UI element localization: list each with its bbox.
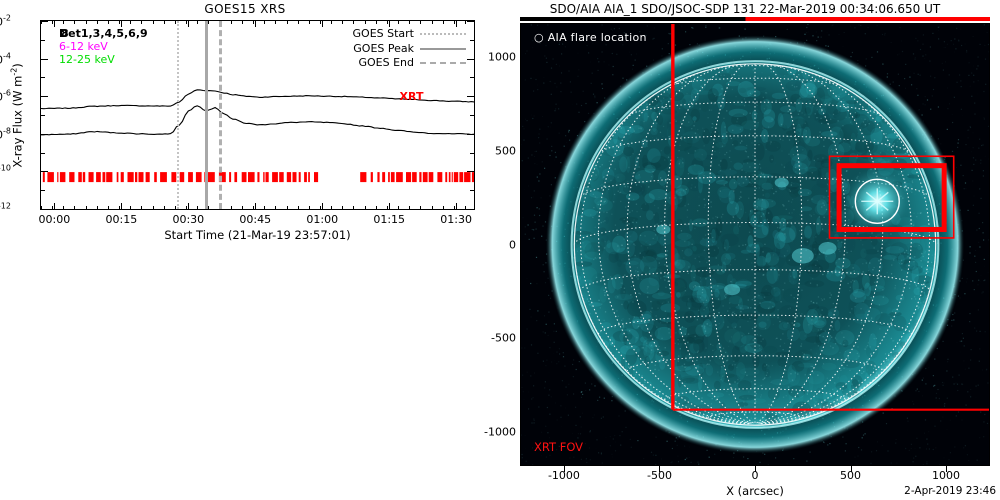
goes-x-minor-tick xyxy=(298,21,299,24)
goes-vline-goes-peak xyxy=(205,21,208,209)
goes-event-marker xyxy=(89,172,94,182)
goes-x-tick-label: 00:15 xyxy=(105,213,137,226)
goes-y-tick-label: 10-2 xyxy=(0,14,11,29)
goes-event-marker xyxy=(180,172,185,182)
goes-x-minor-tick xyxy=(253,206,254,209)
goes-y-tick-label: 10-8 xyxy=(0,126,11,141)
goes-x-minor-tick xyxy=(409,21,410,24)
goes-x-minor-tick xyxy=(74,21,75,24)
goes-key-row-1: GOES Peak xyxy=(353,42,466,57)
aia-x-tick-label: 500 xyxy=(840,469,861,482)
goes-event-marker xyxy=(196,172,202,182)
goes-x-minor-tick xyxy=(197,206,198,209)
goes-key-row-2: GOES End xyxy=(353,56,466,71)
goes-x-minor-tick xyxy=(130,206,131,209)
goes-x-minor-tick xyxy=(208,206,209,209)
goes-x-minor-tick xyxy=(231,21,232,24)
goes-x-tick-label: 00:30 xyxy=(172,213,204,226)
goes-event-marker xyxy=(135,172,137,182)
goes-x-minor-tick xyxy=(264,206,265,209)
goes-x-minor-tick xyxy=(420,206,421,209)
goes-event-marker xyxy=(445,172,447,182)
goes-event-marker xyxy=(106,172,112,182)
goes-event-marker xyxy=(452,172,453,182)
goes-x-minor-tick xyxy=(253,21,254,24)
goes-key-label-2: GOES End xyxy=(358,56,414,71)
goes-x-minor-tick xyxy=(242,21,243,24)
goes-vline-goes-end xyxy=(219,21,222,209)
aia-colorbar xyxy=(520,17,990,21)
aia-y-tick-label: -1000 xyxy=(484,426,516,439)
goes-event-marker xyxy=(437,172,442,182)
goes-x-tick-label: 01:00 xyxy=(306,213,338,226)
goes-y-minor-tick-right xyxy=(470,190,474,191)
goes-event-marker xyxy=(406,172,411,182)
goes-x-minor-tick xyxy=(331,21,332,24)
goes-event-marker xyxy=(257,172,259,182)
goes-x-minor-tick xyxy=(454,21,455,24)
goes-plot-area: XRTDet1,3,4,5,6,986-12 keV12-25 keVGOES … xyxy=(40,20,475,210)
goes-event-marker xyxy=(360,172,366,182)
goes-event-marker xyxy=(412,172,417,182)
goes-x-minor-tick xyxy=(86,21,87,24)
goes-x-tick-top xyxy=(322,21,323,27)
goes-y-tick-right xyxy=(467,209,474,210)
goes-x-minor-tick xyxy=(231,206,232,209)
goes-x-minor-tick xyxy=(465,206,466,209)
goes-event-marker xyxy=(128,172,134,182)
goes-x-minor-tick xyxy=(197,21,198,24)
xrt-curve-label: XRT xyxy=(400,90,424,103)
goes-x-minor-tick xyxy=(398,206,399,209)
goes-x-minor-tick xyxy=(353,21,354,24)
goes-x-minor-tick xyxy=(432,206,433,209)
goes-y-minor-tick xyxy=(41,115,45,116)
goes-x-tick-top xyxy=(255,21,256,27)
goes-y-minor-tick xyxy=(41,190,45,191)
goes-x-minor-tick xyxy=(465,21,466,24)
goes-x-tick xyxy=(188,203,189,209)
goes-x-minor-tick xyxy=(443,206,444,209)
goes-event-marker xyxy=(160,172,167,182)
goes-series-1 xyxy=(41,106,474,135)
xrt-fov-label: XRT FOV xyxy=(534,440,583,454)
figure-timestamp: 2-Apr-2019 23:46 xyxy=(904,485,996,497)
goes-y-tick xyxy=(41,21,48,22)
goes-x-minor-tick xyxy=(298,206,299,209)
goes-vline-goes-start xyxy=(177,21,179,209)
goes-x-tick-top xyxy=(54,21,55,27)
goes-y-tick-right xyxy=(467,21,474,22)
goes-x-tick xyxy=(322,203,323,209)
aia-disk-graphic xyxy=(520,23,990,466)
goes-x-minor-tick xyxy=(119,206,120,209)
aia-image-panel: SDO/AIA AIA_1 SDO/JSOC-SDP 131 22-Mar-20… xyxy=(490,0,1000,500)
goes-y-tick xyxy=(41,59,48,60)
goes-x-minor-tick xyxy=(376,206,377,209)
goes-x-minor-tick xyxy=(242,206,243,209)
aia-x-tick-label: -1000 xyxy=(548,469,580,482)
goes-x-minor-tick xyxy=(275,21,276,24)
aia-y-tick-label: 1000 xyxy=(488,50,516,63)
goes-event-marker xyxy=(429,172,434,182)
goes-event-marker xyxy=(308,172,310,182)
goes-y-tick xyxy=(41,134,48,135)
goes-x-axis-label: Start Time (21-Mar-19 23:57:01) xyxy=(40,228,475,242)
goes-x-minor-tick xyxy=(387,206,388,209)
goes-event-marker xyxy=(287,172,291,182)
goes-event-marker xyxy=(146,172,150,182)
goes-event-marker xyxy=(293,172,297,182)
goes-event-marker xyxy=(263,172,264,182)
goes-x-minor-tick xyxy=(108,21,109,24)
goes-event-marker xyxy=(396,172,403,182)
goes-x-minor-tick xyxy=(398,21,399,24)
goes-x-minor-tick xyxy=(420,21,421,24)
goes-x-tick xyxy=(456,203,457,209)
goes-x-minor-tick xyxy=(331,206,332,209)
aia-y-tick-label: 500 xyxy=(495,144,516,157)
goes-x-minor-tick xyxy=(275,206,276,209)
goes-x-minor-tick xyxy=(320,206,321,209)
goes-event-marker xyxy=(382,172,385,182)
goes-x-minor-tick xyxy=(186,206,187,209)
goes-event-marker xyxy=(188,172,193,182)
goes-x-minor-tick xyxy=(287,21,288,24)
goes-event-marker xyxy=(299,172,301,182)
figure-root: GOES15 XRS X-ray Flux (W m-2) XRTDet1,3,… xyxy=(0,0,1000,500)
goes-x-tick xyxy=(54,203,55,209)
goes-event-marker xyxy=(154,172,157,182)
goes-event-marker xyxy=(314,172,318,182)
detector-legend: Det1,3,4,5,6,986-12 keV12-25 keV xyxy=(59,27,148,66)
goes-y-axis-label: X-ray Flux (W m-2) xyxy=(10,30,25,200)
goes-y-minor-tick-right xyxy=(470,153,474,154)
detector-legend-overlay: 8 xyxy=(61,27,69,40)
goes-x-minor-tick xyxy=(365,21,366,24)
goes-event-marker xyxy=(459,172,463,182)
goes-event-marker xyxy=(103,172,106,182)
goes-x-minor-tick xyxy=(409,206,410,209)
goes-y-tick-right xyxy=(467,96,474,97)
goes-key-swatch-1 xyxy=(420,48,466,50)
goes-x-minor-tick xyxy=(287,206,288,209)
goes-y-tick-right xyxy=(467,59,474,60)
goes-event-marker xyxy=(69,172,74,182)
goes-x-minor-tick xyxy=(63,21,64,24)
goes-y-minor-tick xyxy=(41,40,45,41)
goes-event-marker xyxy=(171,172,176,182)
goes-y-tick xyxy=(41,209,48,210)
goes-y-tick-right xyxy=(467,134,474,135)
goes-x-minor-tick xyxy=(432,21,433,24)
goes-x-minor-tick xyxy=(376,21,377,24)
goes-y-minor-tick-right xyxy=(470,77,474,78)
goes-x-minor-tick xyxy=(74,206,75,209)
goes-y-minor-tick xyxy=(41,153,45,154)
goes-event-marker xyxy=(57,172,58,182)
goes-event-marker xyxy=(464,172,470,182)
goes-event-marker xyxy=(377,172,379,182)
goes-x-tick-label: 00:00 xyxy=(39,213,71,226)
goes-event-marker xyxy=(117,172,119,182)
goes-y-tick-label: 10-4 xyxy=(0,51,11,66)
goes-x-minor-tick xyxy=(309,206,310,209)
goes-x-minor-tick xyxy=(443,21,444,24)
goes-x-tick xyxy=(121,203,122,209)
goes-x-minor-tick xyxy=(141,206,142,209)
goes-y-tick-label: 10-10 xyxy=(0,164,11,179)
goes-key-label-0: GOES Start xyxy=(353,27,414,42)
detector-legend-line2: 6-12 keV xyxy=(59,40,148,53)
aia-image-title: SDO/AIA AIA_1 SDO/JSOC-SDP 131 22-Mar-20… xyxy=(490,2,1000,16)
goes-y-tick-label: 10-6 xyxy=(0,89,11,104)
goes-x-minor-tick xyxy=(175,21,176,24)
goes-y-tick xyxy=(41,96,48,97)
goes-event-marker xyxy=(121,172,124,182)
goes-event-marker xyxy=(96,172,101,182)
goes-y-tick-label: 10-12 xyxy=(0,202,11,217)
goes-event-marker xyxy=(242,172,247,182)
goes-event-marker xyxy=(449,172,451,182)
goes-x-minor-tick xyxy=(387,21,388,24)
goes-plot-title: GOES15 XRS xyxy=(0,2,490,16)
aia-x-tick-label: 0 xyxy=(752,469,759,482)
goes-event-marker xyxy=(229,172,231,182)
goes-x-minor-tick xyxy=(164,21,165,24)
goes-x-minor-tick xyxy=(97,206,98,209)
goes-event-marker xyxy=(304,172,307,182)
goes-x-minor-tick xyxy=(309,21,310,24)
goes-event-marker xyxy=(83,172,85,182)
goes-x-minor-tick xyxy=(264,21,265,24)
goes-x-minor-tick xyxy=(153,206,154,209)
goes-event-marker xyxy=(391,172,395,182)
goes-x-minor-tick xyxy=(175,206,176,209)
goes-x-minor-tick xyxy=(63,206,64,209)
goes-event-marker xyxy=(248,172,255,182)
goes-x-tick-label: 00:45 xyxy=(239,213,271,226)
goes-x-tick xyxy=(389,203,390,209)
goes-event-marker xyxy=(234,172,237,182)
goes-event-marker xyxy=(454,172,458,182)
goes-event-marker xyxy=(419,172,421,182)
aia-x-tick-label: 1000 xyxy=(932,469,960,482)
goes-event-marker xyxy=(139,172,144,182)
goes-y-minor-tick xyxy=(41,77,45,78)
goes-lightcurve-panel: GOES15 XRS X-ray Flux (W m-2) XRTDet1,3,… xyxy=(0,0,490,500)
aia-solar-disk-image: ○ AIA flare location XRT FOV xyxy=(520,23,990,466)
goes-event-marker xyxy=(78,172,82,182)
goes-event-marker xyxy=(208,172,215,182)
goes-event-marker xyxy=(371,172,373,182)
goes-event-marker xyxy=(423,172,428,182)
goes-x-minor-tick xyxy=(342,21,343,24)
goes-event-marker xyxy=(47,172,54,182)
aia-flare-location-key: ○ AIA flare location xyxy=(534,31,647,44)
goes-event-marker xyxy=(279,172,284,182)
detector-legend-line3: 12-25 keV xyxy=(59,53,148,66)
goes-line-key: GOES StartGOES PeakGOES End xyxy=(353,27,466,71)
goes-x-minor-tick xyxy=(353,206,354,209)
goes-x-minor-tick xyxy=(454,206,455,209)
goes-x-minor-tick xyxy=(342,206,343,209)
goes-x-tick-label: 01:15 xyxy=(373,213,405,226)
goes-event-marker xyxy=(472,172,474,182)
goes-y-minor-tick-right xyxy=(470,40,474,41)
goes-x-minor-tick xyxy=(52,21,53,24)
goes-x-minor-tick xyxy=(320,21,321,24)
aia-y-tick-label: -500 xyxy=(491,332,516,345)
goes-x-minor-tick xyxy=(208,21,209,24)
goes-event-marker xyxy=(388,172,390,182)
goes-x-minor-tick xyxy=(141,21,142,24)
goes-event-marker xyxy=(272,172,278,182)
goes-x-minor-tick xyxy=(186,21,187,24)
goes-x-minor-tick xyxy=(108,206,109,209)
aia-x-tick-label: -500 xyxy=(647,469,672,482)
goes-y-tick-right xyxy=(467,171,474,172)
aia-y-tick-label: 0 xyxy=(509,238,516,251)
goes-event-marker xyxy=(60,172,66,182)
goes-x-minor-tick xyxy=(97,21,98,24)
goes-x-minor-tick xyxy=(52,206,53,209)
goes-x-minor-tick xyxy=(130,21,131,24)
goes-x-minor-tick xyxy=(86,206,87,209)
goes-x-minor-tick xyxy=(153,21,154,24)
goes-key-swatch-2 xyxy=(420,62,466,64)
goes-y-tick xyxy=(41,171,48,172)
goes-event-marker xyxy=(266,172,269,182)
goes-x-tick-top xyxy=(188,21,189,27)
goes-x-minor-tick xyxy=(164,206,165,209)
goes-key-row-0: GOES Start xyxy=(353,27,466,42)
goes-event-marker xyxy=(43,172,45,182)
detector-legend-line1: Det1,3,4,5,6,98 xyxy=(59,27,148,40)
goes-key-label-1: GOES Peak xyxy=(353,42,414,57)
goes-x-minor-tick xyxy=(365,206,366,209)
goes-y-minor-tick-right xyxy=(470,115,474,116)
goes-x-tick-label: 01:30 xyxy=(440,213,472,226)
goes-key-swatch-0 xyxy=(420,33,466,35)
goes-x-tick xyxy=(255,203,256,209)
goes-x-minor-tick xyxy=(119,21,120,24)
